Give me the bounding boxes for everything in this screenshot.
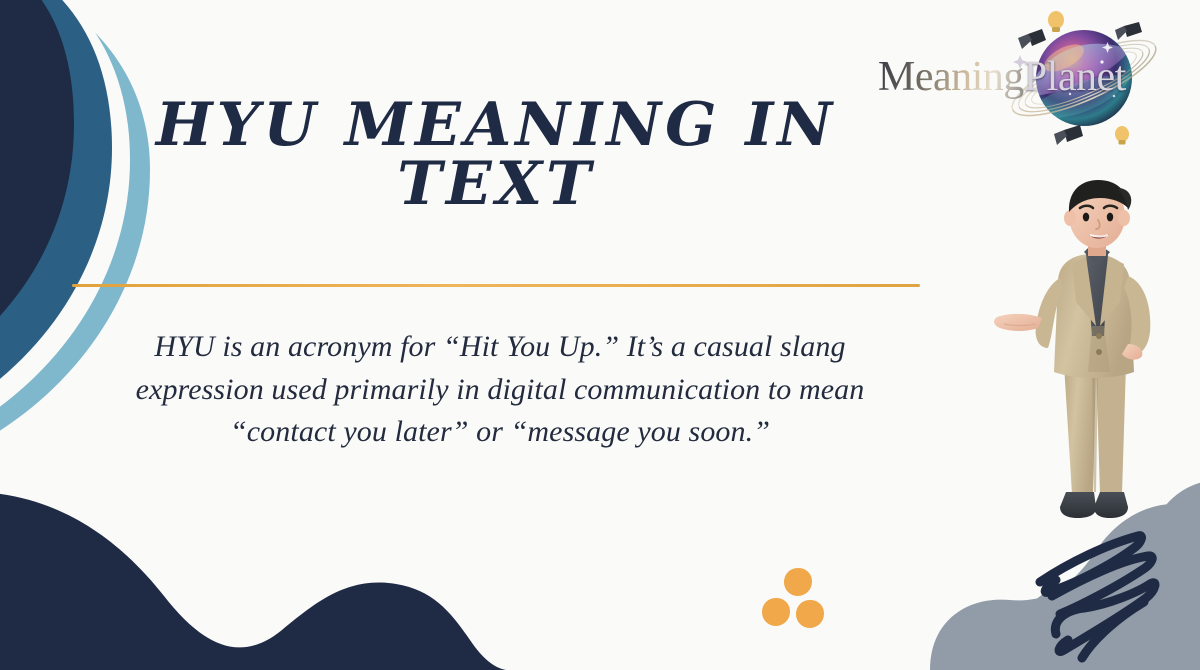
book-icon — [1054, 125, 1083, 145]
lightbulb-icon — [1048, 11, 1064, 32]
presenting-hand — [994, 314, 1042, 331]
shoe-right — [1094, 492, 1128, 518]
brand-logo[interactable]: MeaningPlanet — [878, 6, 1178, 156]
book-icon — [1115, 22, 1142, 40]
definition-block: HYU is an acronym for “Hit You Up.” It’s… — [120, 326, 880, 454]
navy-scribble-icon — [1022, 528, 1192, 668]
button-icon — [1096, 333, 1102, 339]
page-title: HYU MEANING IN TEXT — [72, 96, 920, 215]
eye-left — [1083, 213, 1089, 222]
orange-dot-icon — [762, 598, 790, 626]
page-title-block: HYU MEANING IN TEXT — [72, 96, 920, 215]
orange-dot-cluster — [762, 568, 834, 640]
book-icon — [1018, 29, 1046, 49]
brand-logo-text-secondary: Planet — [1024, 54, 1126, 100]
banner-canvas: HYU MEANING IN TEXT HYU is an acronym fo… — [0, 0, 1200, 670]
orange-dot-icon — [784, 568, 812, 596]
lightbulb-icon — [1115, 126, 1129, 145]
shoe-left — [1060, 492, 1096, 518]
button-icon — [1096, 349, 1102, 355]
gold-divider — [72, 284, 920, 287]
businessman-illustration — [992, 176, 1182, 546]
brand-logo-text: MeaningPlanet — [878, 56, 1178, 98]
orange-dot-icon — [796, 600, 824, 628]
definition-text: HYU is an acronym for “Hit You Up.” It’s… — [120, 326, 880, 454]
brand-logo-text-primary: Meaning — [878, 54, 1024, 100]
eye-right — [1107, 213, 1113, 222]
